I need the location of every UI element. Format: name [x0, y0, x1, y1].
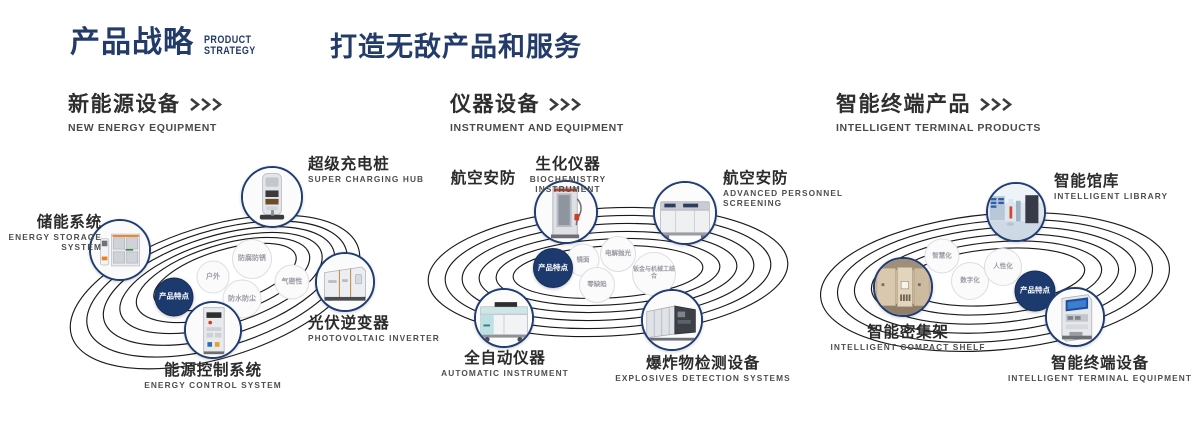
compact-shelving-icon [875, 259, 931, 315]
inverter-cabinet-icon [317, 254, 373, 310]
chevron-triple-right-icon [549, 98, 583, 111]
charging-pile-icon [243, 168, 301, 226]
section-title-intelligent-terminal-products: 智能终端产品 INTELLIGENT TERMINAL PRODUCTS [836, 94, 1041, 134]
library-room-icon [988, 184, 1044, 240]
product-node-intelligent-compact-shelf[interactable] [873, 257, 933, 317]
page-title-en: PRODUCT STRATEGY [204, 35, 256, 57]
product-node-automatic-instrument[interactable] [474, 288, 534, 348]
explosives-detector-icon [643, 291, 701, 349]
page-title-cn: 产品战略 [70, 28, 194, 58]
diagram-group-instrument-and-equipment: 镜面 电解抛光 零缺陷 钣金与机械工结合 产品特点 [400, 150, 820, 400]
section-title-new-energy-equipment: 新能源设备 NEW ENERGY EQUIPMENT [68, 94, 224, 134]
feature-bubble: 零缺陷 [579, 267, 615, 303]
feature-bubble: 电解抛光 [600, 236, 636, 272]
product-node-intelligent-library[interactable] [986, 182, 1046, 242]
product-node-energy-control-system[interactable] [184, 301, 242, 359]
section-title-en: INSTRUMENT AND EQUIPMENT [450, 122, 624, 134]
chevron-triple-right-icon [190, 98, 224, 111]
product-label-biochemistry-instrument: 生化仪器 BIOCHEMISTRY INSTRUMENT [504, 156, 632, 194]
section-title-cn: 仪器设备 [450, 94, 540, 115]
automatic-analyzer-icon [476, 290, 532, 346]
product-label-aviation-security: 航空安防 [390, 170, 516, 187]
product-node-advanced-personnel-screening[interactable] [653, 181, 717, 245]
product-node-intelligent-terminal-equipment[interactable] [1045, 287, 1105, 347]
section-title-en: NEW ENERGY EQUIPMENT [68, 122, 224, 134]
feature-bubble-main: 产品特点 [533, 248, 573, 288]
product-label-intelligent-compact-shelf: 智能密集架 INTELLIGENT COMPACT SHELF [828, 324, 988, 353]
diagram-group-new-energy-equipment: 户外 防腐防锈 防水防尘 气密性 产品特点 [0, 150, 420, 400]
section-title-cn: 智能终端产品 [836, 94, 971, 115]
page-title: 产品战略 PRODUCT STRATEGY [70, 28, 267, 58]
chevron-triple-right-icon [980, 98, 1014, 111]
product-strategy-infographic: 产品战略 PRODUCT STRATEGY 打造无敌产品和服务 新能源设备 NE… [0, 0, 1200, 422]
product-node-super-charging-hub[interactable] [241, 166, 303, 228]
product-node-explosives-detection-systems[interactable] [641, 289, 703, 351]
product-label-intelligent-terminal-equipment: 智能终端设备 INTELLIGENT TERMINAL EQUIPMENT [1000, 355, 1200, 384]
product-label-automatic-instrument: 全自动仪器 AUTOMATIC INSTRUMENT [416, 350, 594, 379]
section-title-en: INTELLIGENT TERMINAL PRODUCTS [836, 122, 1041, 134]
product-label-energy-storage-system: 储能系统 ENERGY STORAGE SYSTEM [0, 214, 102, 252]
product-label-intelligent-library: 智能馆库 INTELLIGENT LIBRARY [1054, 173, 1194, 202]
section-title-instrument-and-equipment: 仪器设备 INSTRUMENT AND EQUIPMENT [450, 94, 624, 134]
section-title-cn: 新能源设备 [68, 94, 181, 115]
terminal-kiosk-icon [1047, 289, 1103, 345]
screening-machine-icon [655, 183, 715, 243]
page-subtitle: 打造无敌产品和服务 [330, 32, 582, 63]
control-cabinet-icon [186, 303, 240, 357]
product-label-energy-control-system: 能源控制系统 ENERGY CONTROL SYSTEM [118, 362, 308, 391]
feature-bubble: 防腐防锈 [232, 239, 272, 279]
product-label-explosives-detection-systems: 爆炸物检测设备 EXPLOSIVES DETECTION SYSTEMS [588, 355, 818, 384]
feature-bubble: 气密性 [275, 265, 310, 300]
diagram-group-intelligent-terminal-products: 智慧化 数字化 人性化 产品特点 [790, 150, 1200, 400]
product-node-photovoltaic-inverter[interactable] [315, 252, 375, 312]
page-title-en-line2: STRATEGY [204, 46, 256, 57]
